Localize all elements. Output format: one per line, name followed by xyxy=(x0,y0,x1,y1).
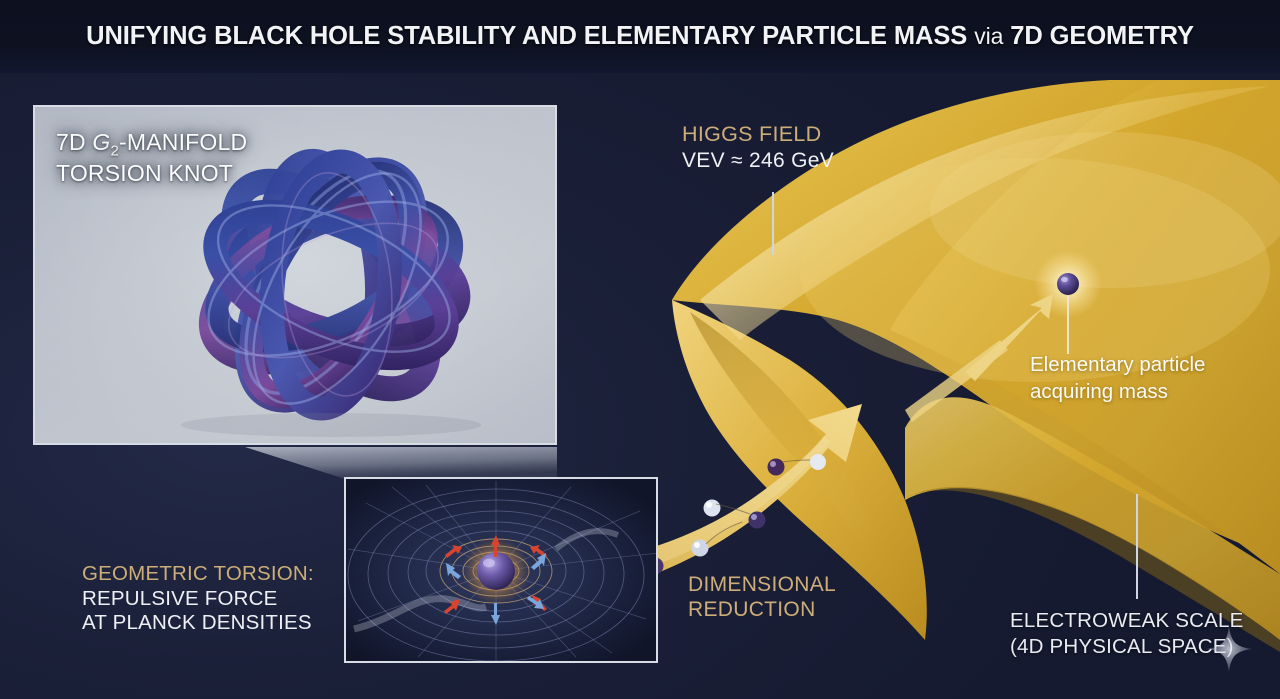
knot-label-line1: 7D G2-MANIFOLD xyxy=(56,129,247,160)
title-bar: UNIFYING BLACK HOLE STABILITY AND ELEMEN… xyxy=(0,0,1280,73)
torsion-line2: REPULSIVE FORCE xyxy=(82,587,314,612)
blackhole-inset xyxy=(344,477,658,663)
dimred-line1: DIMENSIONAL xyxy=(688,572,836,597)
title-via: via xyxy=(974,23,1003,49)
title-tail: 7D GEOMETRY xyxy=(1010,22,1194,50)
higgs-heading: HIGGS FIELD xyxy=(682,122,834,148)
higgs-field-label: HIGGS FIELD VEV ≈ 246 GeV xyxy=(682,122,834,173)
electroweak-leader-line xyxy=(1136,494,1138,599)
knot-panel-label: 7D G2-MANIFOLD TORSION KNOT xyxy=(56,129,247,187)
knot-label-line2: TORSION KNOT xyxy=(56,160,247,187)
torsion-line3: AT PLANCK DENSITIES xyxy=(82,611,314,636)
infographic-canvas: 7D G2-MANIFOLD TORSION KNOT xyxy=(0,0,1280,699)
g2-subscript: 2 xyxy=(111,143,120,160)
dimensional-reduction-label: DIMENSIONAL REDUCTION xyxy=(688,572,836,622)
particle-label-line2: acquiring mass xyxy=(1030,379,1205,406)
dimred-line2: REDUCTION xyxy=(688,597,836,622)
sparkle-4point-icon xyxy=(1206,626,1252,672)
spacetime-funnel-grid-icon xyxy=(346,479,658,663)
elementary-particle-label: Elementary particle acquiring mass xyxy=(1030,352,1205,405)
g2-italic: G xyxy=(92,129,110,155)
particle-label-line1: Elementary particle xyxy=(1030,352,1205,379)
page-title: UNIFYING BLACK HOLE STABILITY AND ELEMEN… xyxy=(86,22,1194,51)
geometric-torsion-label: GEOMETRIC TORSION: REPULSIVE FORCE AT PL… xyxy=(82,562,314,636)
title-main: UNIFYING BLACK HOLE STABILITY AND ELEMEN… xyxy=(86,22,967,50)
knot-panel: 7D G2-MANIFOLD TORSION KNOT xyxy=(33,105,557,445)
particle-leader-line xyxy=(1067,296,1069,354)
higgs-leader-line xyxy=(772,192,774,255)
torsion-heading: GEOMETRIC TORSION: xyxy=(82,562,314,587)
particle-sphere xyxy=(1057,273,1079,295)
higgs-vev-value: VEV ≈ 246 GeV xyxy=(682,148,834,173)
